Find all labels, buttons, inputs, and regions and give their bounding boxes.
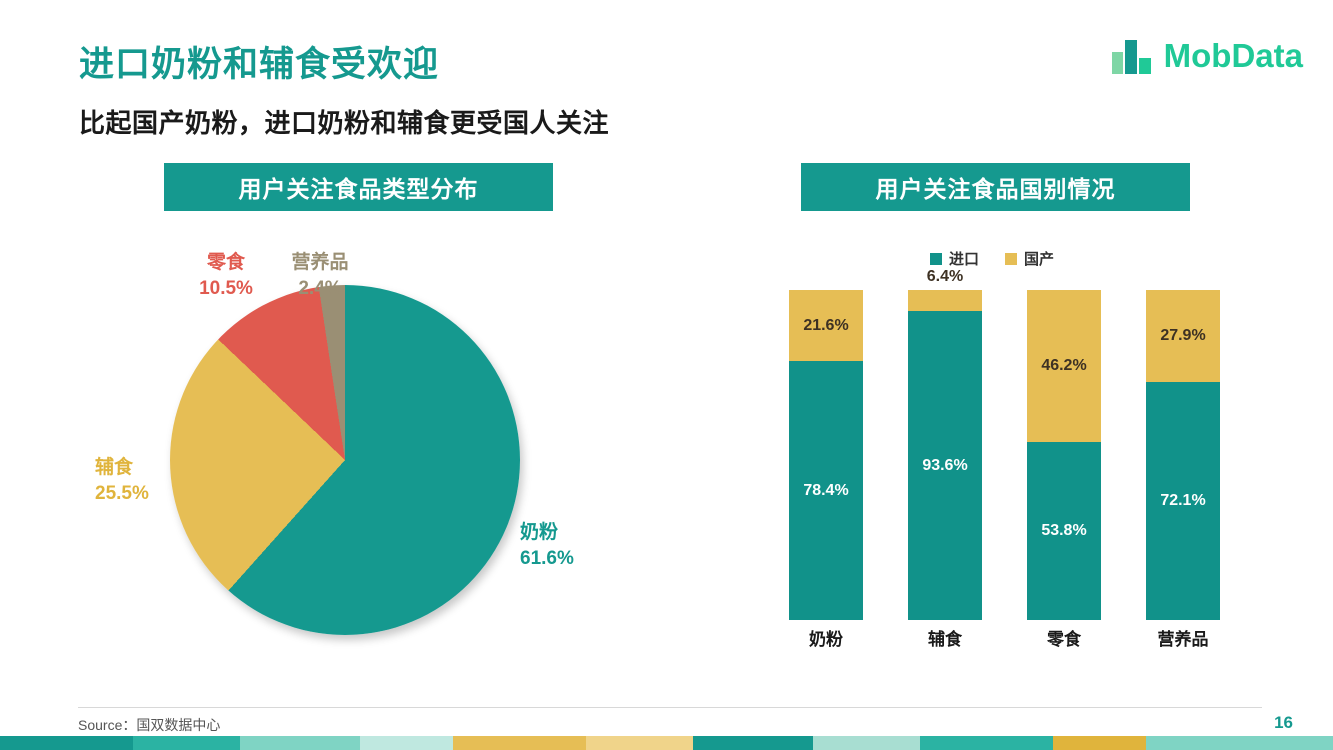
bar-segment-domestic: 46.2% <box>1027 290 1101 442</box>
legend-swatch-domestic <box>1005 253 1017 265</box>
pie-label-value: 25.5% <box>95 481 149 507</box>
bar-value-label: 93.6% <box>922 457 967 475</box>
bar-segment-import: 72.1% <box>1146 382 1220 620</box>
bar-column-milk-powder: 21.6% 78.4% <box>789 290 863 620</box>
footer-divider <box>78 707 1262 708</box>
bar-segment-domestic: 27.9% <box>1146 290 1220 382</box>
bar-column-supplementary: 6.4% 93.6% <box>908 290 982 620</box>
panel-title-left: 用户关注食品类型分布 <box>164 163 553 211</box>
bar-value-label-domestic-outside: 6.4% <box>908 268 982 286</box>
pie-chart <box>170 285 525 640</box>
bar-segment-domestic: 21.6% <box>789 290 863 361</box>
bar-column-nutrition: 27.9% 72.1% <box>1146 290 1220 620</box>
bar-segment-domestic: 6.4% <box>908 290 982 311</box>
stacked-bar-chart: 21.6% 78.4% 奶粉 6.4% 93.6% 6.4% 辅食 46.2% … <box>789 290 1249 620</box>
pie-label-nutrition: 营养品 2.4% <box>280 250 360 301</box>
bar-value-label: 53.8% <box>1041 522 1086 540</box>
pie-label-milk-powder: 奶粉 61.6% <box>520 520 574 571</box>
page-number: 16 <box>1274 713 1293 733</box>
pie-label-name: 营养品 <box>280 250 360 276</box>
bar-category-snacks: 零食 <box>1027 625 1101 650</box>
bar-segment-import: 53.8% <box>1027 442 1101 620</box>
pie-disc <box>170 285 520 635</box>
pie-label-name: 辅食 <box>95 455 149 481</box>
pie-label-snacks: 零食 10.5% <box>196 250 256 301</box>
legend-item-import: 进口 <box>930 248 979 269</box>
panel-title-right: 用户关注食品国别情况 <box>801 163 1190 211</box>
bar-category-supplementary: 辅食 <box>908 625 982 650</box>
bar-value-label: 72.1% <box>1160 492 1205 510</box>
legend-swatch-import <box>930 253 942 265</box>
logo-text: MobData <box>1164 37 1303 75</box>
bar-value-label: 21.6% <box>803 317 848 335</box>
pie-label-value: 2.4% <box>280 276 360 302</box>
legend-item-domestic: 国产 <box>1005 248 1054 269</box>
pie-label-value: 10.5% <box>196 276 256 302</box>
slide: 进口奶粉和辅食受欢迎 比起国产奶粉，进口奶粉和辅食更受国人关注 MobData … <box>0 0 1333 750</box>
bar-segment-import: 93.6% <box>908 311 982 620</box>
bar-value-label: 78.4% <box>803 482 848 500</box>
bar-segment-import: 78.4% <box>789 361 863 620</box>
bar-value-label: 46.2% <box>1041 357 1086 375</box>
pie-label-value: 61.6% <box>520 546 574 572</box>
bar-category-nutrition: 营养品 <box>1146 625 1220 650</box>
bar-category-milk-powder: 奶粉 <box>789 625 863 650</box>
bar-value-label: 27.9% <box>1160 327 1205 345</box>
pie-label-name: 奶粉 <box>520 520 574 546</box>
logo-mark-icon <box>1110 36 1154 76</box>
legend-label-domestic: 国产 <box>1024 248 1054 269</box>
pie-label-supplementary: 辅食 25.5% <box>95 455 149 506</box>
pie-label-name: 零食 <box>196 250 256 276</box>
footer-color-bar <box>0 736 1333 750</box>
brand-logo: MobData <box>1110 36 1303 76</box>
legend-label-import: 进口 <box>949 248 979 269</box>
page-subtitle: 比起国产奶粉，进口奶粉和辅食更受国人关注 <box>79 103 609 140</box>
source-note: Source：国双数据中心 <box>78 715 220 735</box>
page-title: 进口奶粉和辅食受欢迎 <box>79 36 439 87</box>
bar-column-snacks: 46.2% 53.8% <box>1027 290 1101 620</box>
bar-chart-legend: 进口 国产 <box>930 248 1054 269</box>
